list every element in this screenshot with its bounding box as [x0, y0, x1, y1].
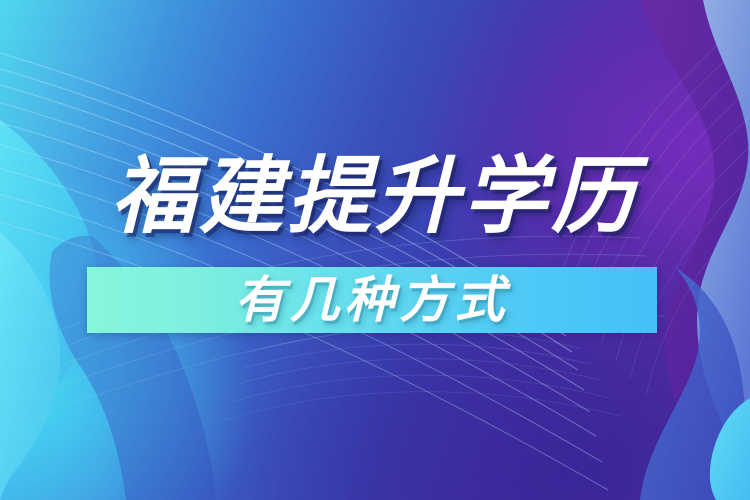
banner-content: 福建提升学历 有几种方式 [0, 0, 750, 500]
banner-subtitle: 有几种方式 [87, 267, 657, 333]
banner-headline: 福建提升学历 [0, 148, 750, 244]
promo-banner: 福建提升学历 有几种方式 [0, 0, 750, 500]
subtitle-highlight-bar: 有几种方式 [87, 267, 657, 333]
